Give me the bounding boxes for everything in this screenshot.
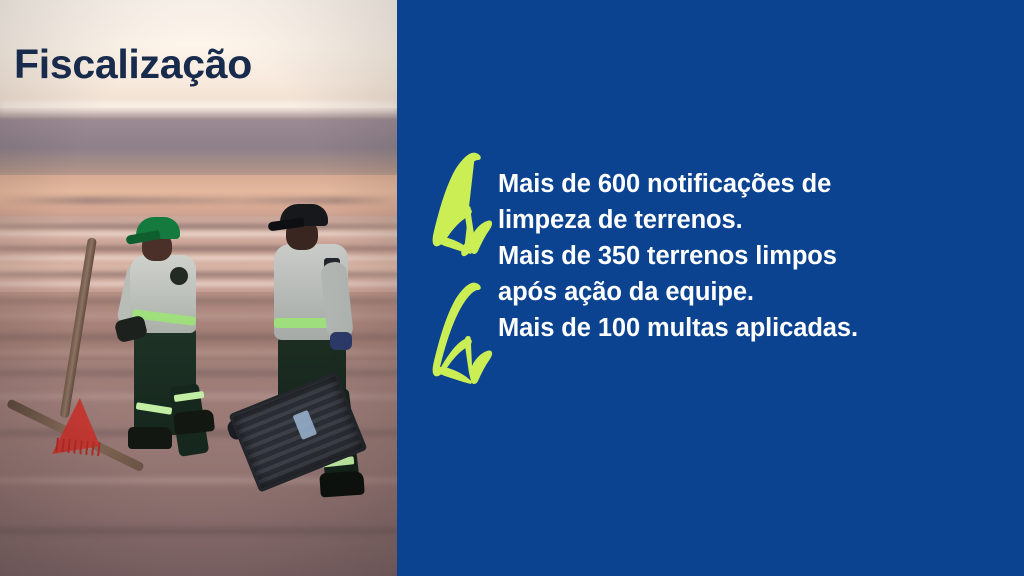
bullet-line: Mais de 100 multas aplicadas.: [498, 310, 968, 346]
bullet-text-block: Mais de 600 notificações de limpeza de t…: [498, 166, 968, 346]
page-title: Fiscalização: [14, 44, 252, 85]
content-panel: Mais de 600 notificações de limpeza de t…: [397, 0, 1024, 576]
bullet-line: limpeza de terrenos.: [498, 202, 968, 238]
bullet-line: Mais de 600 notificações de: [498, 166, 968, 202]
bullet-line: após ação da equipe.: [498, 274, 968, 310]
curved-down-arrow-icon: [430, 278, 494, 390]
cloud-band: [0, 108, 397, 180]
slide-root: Fiscalização Mais de 600 notificações de…: [0, 0, 1024, 576]
curved-down-arrow-icon: [430, 148, 494, 260]
bullet-line: Mais de 350 terrenos limpos: [498, 238, 968, 274]
